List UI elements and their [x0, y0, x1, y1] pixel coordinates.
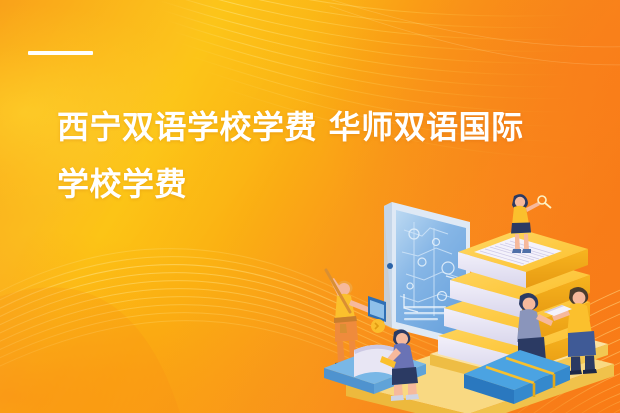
decorative-dash	[28, 51, 93, 55]
isometric-education-books-scene	[318, 178, 620, 413]
held-device	[368, 296, 386, 322]
promo-banner: 西宁双语学校学费 华师双语国际学校学费	[0, 0, 620, 413]
